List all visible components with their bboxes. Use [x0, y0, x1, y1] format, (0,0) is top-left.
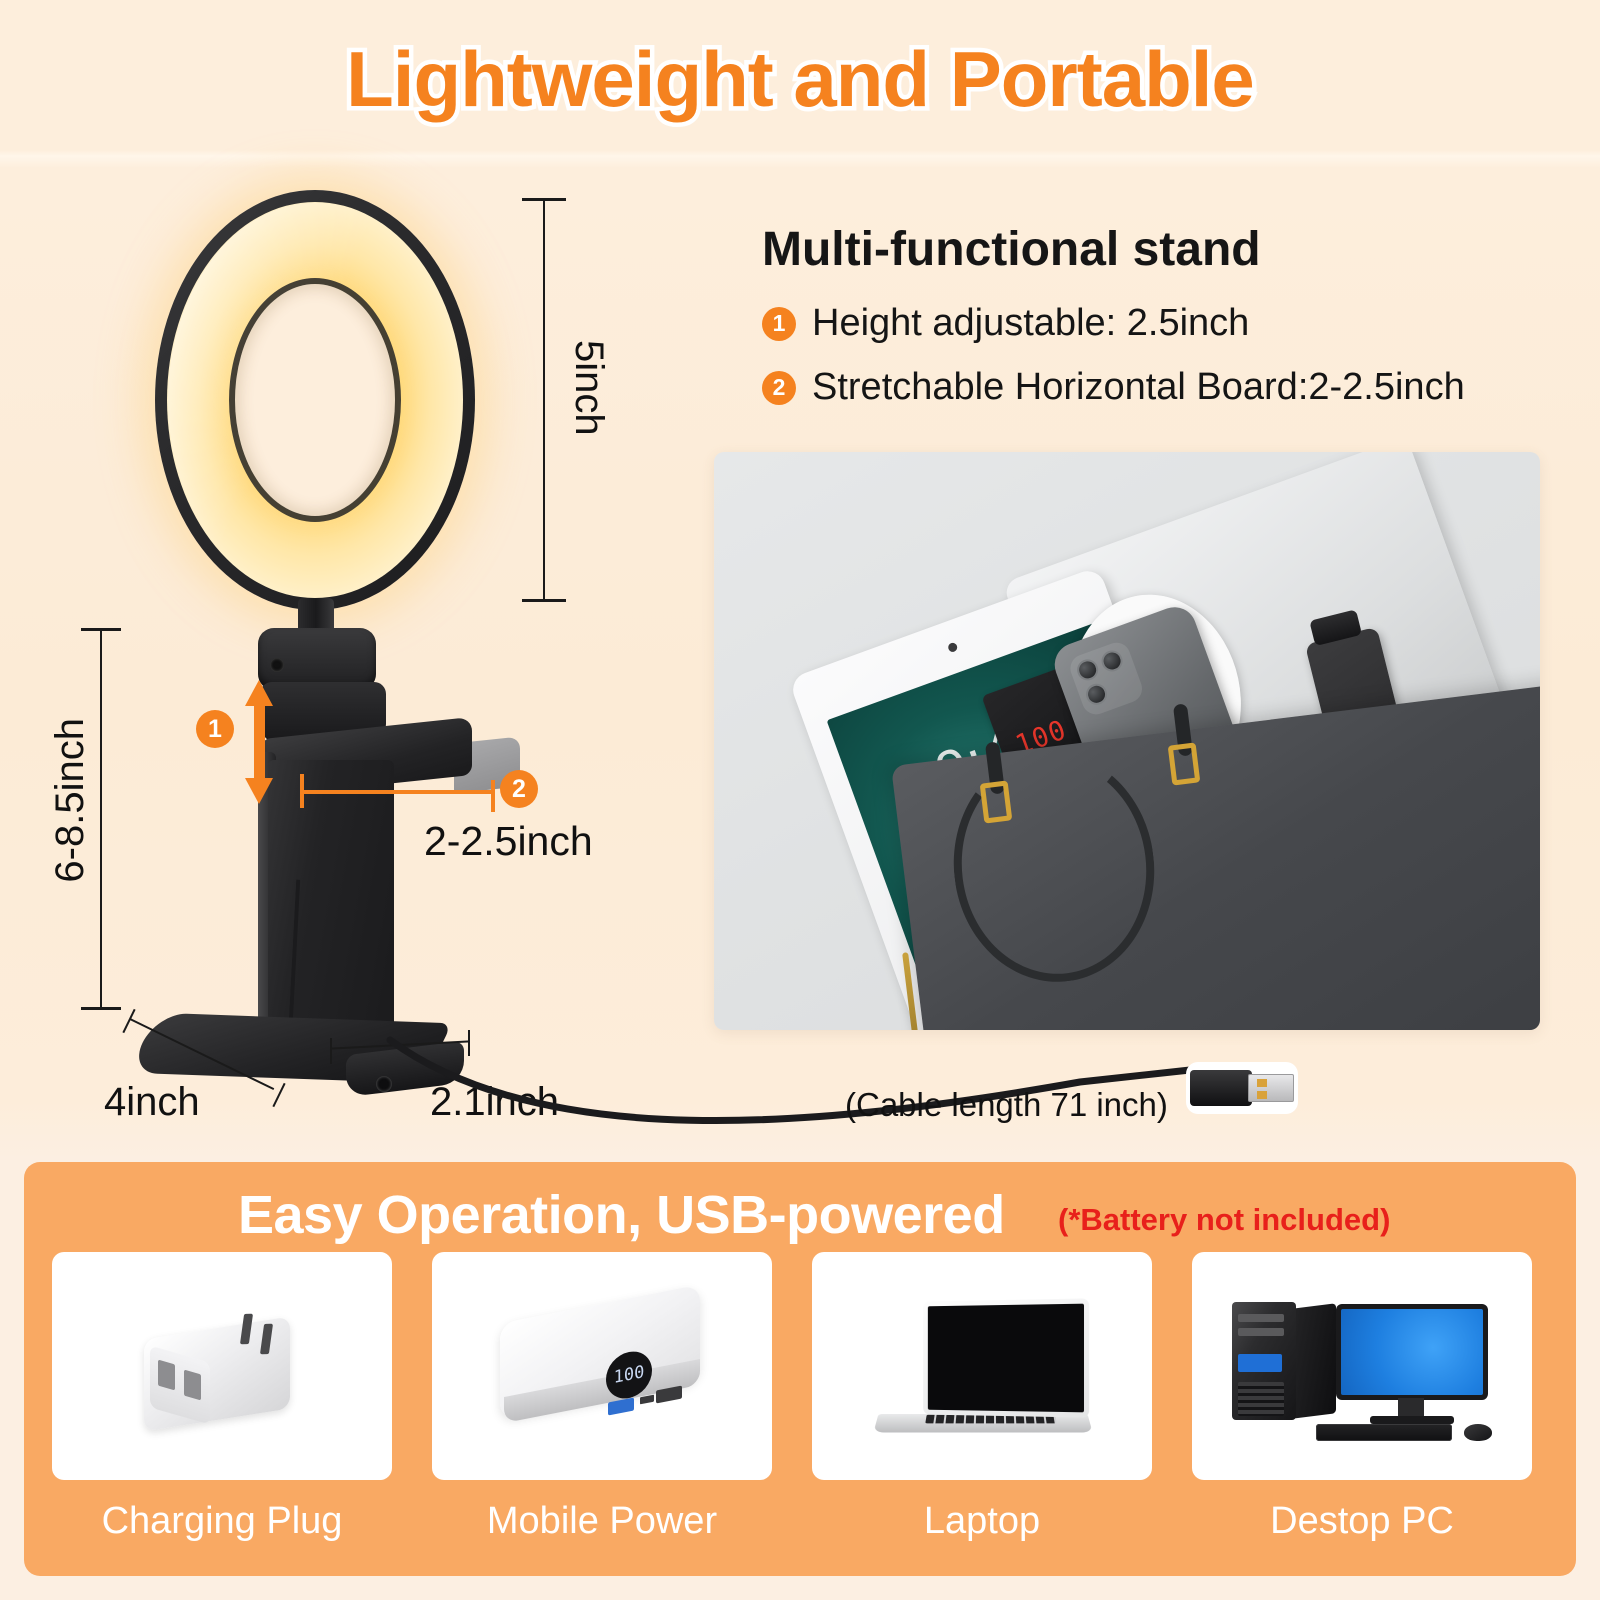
height-dimension-line — [100, 628, 102, 1010]
height-label: 6-8.5inch — [48, 718, 93, 883]
stand-features-heading: Multi-functional stand — [762, 222, 1261, 277]
feature-row-1: 1 Height adjustable: 2.5inch — [762, 302, 1249, 345]
height-arrow-down-head — [245, 778, 273, 804]
feature-text-1: Height adjustable: 2.5inch — [812, 302, 1249, 345]
laptop-icon — [876, 1300, 1092, 1440]
product-badge-1: 1 — [196, 710, 234, 748]
power-bank-micro-in — [640, 1395, 654, 1405]
stand-body-plate — [268, 760, 394, 1050]
ring-center-hole — [235, 284, 395, 516]
pc-vents — [1238, 1382, 1284, 1416]
pc-tower — [1232, 1302, 1296, 1420]
usb-metal-tip — [1248, 1074, 1294, 1102]
height-arrow-up-stem — [254, 702, 265, 746]
wall-charger-icon — [144, 1310, 304, 1430]
ring-diameter-dimension-line — [543, 198, 545, 602]
power-bank-percent: 100 — [614, 1362, 645, 1388]
card-charging-plug[interactable] — [52, 1252, 392, 1480]
pc-mouse-icon — [1464, 1424, 1492, 1441]
banner-battery-note: (*Battery not included) — [1058, 1202, 1390, 1238]
card-laptop[interactable] — [812, 1252, 1152, 1480]
pc-drive-bay — [1238, 1314, 1284, 1322]
charger-usb-port — [184, 1370, 201, 1401]
pc-keyboard-icon — [1316, 1424, 1452, 1441]
handbag-gold-hardware — [1168, 742, 1201, 785]
phone-camera-module-icon — [1066, 639, 1145, 718]
pc-tower-side — [1292, 1303, 1336, 1418]
power-source-cards: 100 — [0, 1252, 1600, 1576]
camera-lens-icon — [1074, 656, 1101, 683]
card-label-charging-plug: Charging Plug — [52, 1500, 392, 1543]
feature-badge-2: 2 — [762, 371, 796, 405]
page-title: Lightweight and Portable — [0, 34, 1600, 125]
ball-joint — [258, 628, 376, 690]
card-desktop-pc[interactable] — [1192, 1252, 1532, 1480]
card-label-mobile-power: Mobile Power — [432, 1500, 772, 1543]
camera-lens-icon — [1083, 681, 1110, 708]
pc-monitor — [1336, 1304, 1488, 1400]
width-tick-start — [330, 1038, 332, 1064]
charger-usb-port — [158, 1360, 175, 1391]
usb-connector — [1186, 1062, 1298, 1114]
card-label-laptop: Laptop — [812, 1500, 1152, 1543]
handbag-gold-hardware — [980, 780, 1013, 823]
pc-drive-bay — [1238, 1328, 1284, 1336]
feature-row-2: 2 Stretchable Horizontal Board:2-2.5inch — [762, 366, 1465, 409]
cable-length-label: (Cable length 71 inch) — [845, 1086, 1168, 1124]
tablet-camera-icon — [947, 642, 959, 654]
ring-diameter-label: 5inch — [566, 340, 611, 436]
card-mobile-power[interactable]: 100 — [432, 1252, 772, 1480]
ring-light-head — [155, 190, 475, 610]
pc-front-panel — [1238, 1354, 1282, 1372]
desktop-pc-icon — [1232, 1296, 1496, 1446]
banner-title: Easy Operation, USB-powered — [238, 1184, 1005, 1246]
usb-housing — [1190, 1070, 1252, 1106]
infographic-page: Lightweight and Portable 1 2 2-2.5inch — [0, 0, 1600, 1600]
board-width-label: 2-2.5inch — [424, 818, 593, 865]
bag-lifestyle-photo: 9:41 100 — [714, 452, 1540, 1030]
card-label-desktop-pc: Destop PC — [1192, 1500, 1532, 1543]
ring-light-product-illustration — [110, 180, 670, 1100]
power-bank-icon: 100 — [500, 1304, 710, 1434]
camera-lens-icon — [1099, 648, 1126, 675]
product-badge-2: 2 — [500, 770, 538, 808]
monitor-foot — [1370, 1416, 1454, 1424]
feature-badge-1: 1 — [762, 307, 796, 341]
laptop-screen — [923, 1298, 1089, 1417]
base-depth-label: 4inch — [104, 1080, 200, 1125]
feature-text-2: Stretchable Horizontal Board:2-2.5inch — [812, 366, 1465, 409]
board-measure-line — [300, 790, 495, 794]
